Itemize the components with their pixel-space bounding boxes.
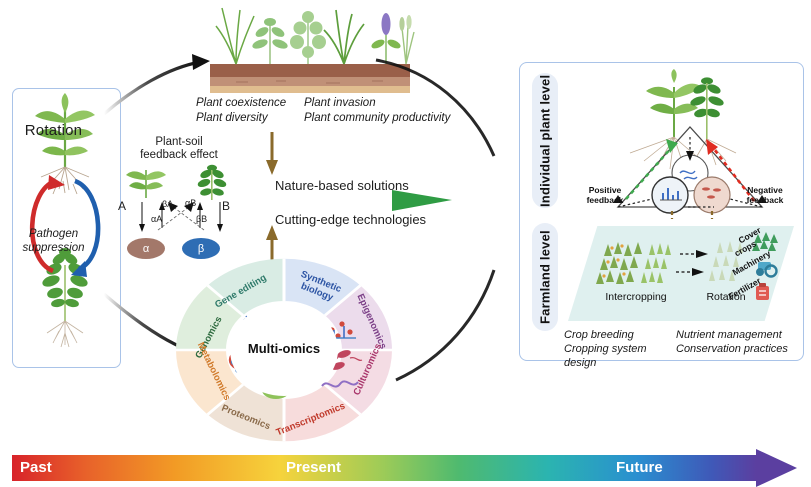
root-system-upper bbox=[41, 167, 89, 194]
multi-omics-wheel: Multi-omics Genomics Gene editing Synthe… bbox=[172, 258, 396, 442]
microbe-circles bbox=[652, 155, 730, 213]
arrow-omics-to-right bbox=[396, 270, 494, 380]
farmland-practices: Crop breeding Nutrient management Croppi… bbox=[564, 328, 796, 370]
negative-feedback-label: Negative feedback bbox=[739, 185, 791, 205]
cutting-edge-technologies-text: Cutting-edge technologies bbox=[275, 212, 426, 227]
practice-crop-breeding: Crop breeding bbox=[564, 328, 676, 342]
timeline-label-past: Past bbox=[20, 459, 52, 476]
right-panel: Individual plant level Farmland level bbox=[519, 62, 804, 361]
arrow-head-upper bbox=[696, 250, 708, 258]
root-system-lower bbox=[47, 321, 83, 347]
arrow-to-community bbox=[104, 54, 210, 114]
tab-individual-plant-level[interactable]: Individual plant level bbox=[532, 73, 558, 208]
intercropping-rows bbox=[596, 242, 671, 284]
timeline-label-present: Present bbox=[286, 459, 341, 476]
pathogen-suppression-caption: Pathogen suppression bbox=[0, 228, 107, 255]
farmland-illustration bbox=[568, 226, 794, 321]
practice-cropping-system-design: Cropping system design bbox=[564, 342, 676, 370]
arrow-head-lower bbox=[692, 268, 704, 276]
label-intercropping: Intercropping bbox=[588, 291, 684, 303]
nature-based-solutions-text: Nature-based solutions bbox=[275, 178, 409, 193]
tab-farmland-level[interactable]: Farmland level bbox=[532, 223, 558, 331]
positive-feedback-line1: Positive bbox=[580, 185, 630, 195]
green-transition-arrow bbox=[102, 190, 452, 211]
arrow-brown-down bbox=[266, 132, 278, 175]
negative-feedback-line1: Negative bbox=[739, 185, 791, 195]
positive-feedback-line2: feedback bbox=[580, 195, 630, 205]
paired-plants-icon bbox=[630, 69, 736, 169]
practice-conservation: Conservation practices bbox=[676, 342, 788, 370]
timeline-label-future: Future bbox=[616, 459, 663, 476]
arrow-community-to-right bbox=[376, 60, 494, 156]
rotation-label: Rotation bbox=[0, 122, 107, 139]
negative-feedback-line2: feedback bbox=[739, 195, 791, 205]
timeline-bar-group: Past Present Future bbox=[12, 455, 799, 481]
practice-nutrient-management: Nutrient management bbox=[676, 328, 782, 342]
positive-feedback-label: Positive feedback bbox=[580, 185, 630, 205]
pathogen-caption-line2: suppression bbox=[0, 242, 107, 256]
legume-plant-icon bbox=[41, 248, 89, 321]
timeline-arrow-head bbox=[756, 449, 797, 487]
multi-omics-title: Multi-omics bbox=[230, 341, 338, 356]
pathogen-caption-line1: Pathogen bbox=[0, 228, 107, 242]
